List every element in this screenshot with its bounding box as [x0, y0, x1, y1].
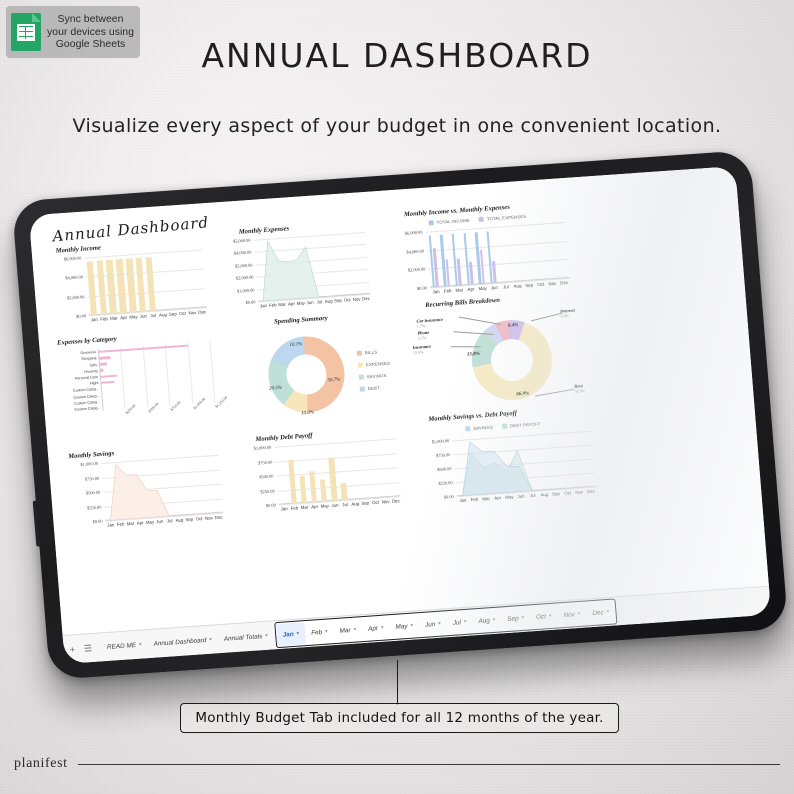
x-tick-label: May — [505, 494, 514, 500]
x-tick-label: Dec — [560, 280, 568, 286]
page-subtitle: Visualize every aspect of your budget in… — [0, 115, 794, 137]
x-tick-label: May — [320, 503, 329, 509]
tablet-screen: Annual Dashboard Monthly Income$0.00$2,0… — [29, 166, 771, 664]
legend-label: DEBT PAYOFF — [510, 421, 541, 428]
category-label: Custom Categ... — [74, 406, 100, 412]
gridline — [276, 467, 398, 477]
x-tick-label: Apr — [311, 504, 318, 509]
x-tick-label: Jul — [530, 493, 536, 498]
bar — [100, 381, 115, 385]
legend-swatch — [465, 426, 470, 431]
y-tick-label: $0.00 — [92, 519, 102, 525]
x-tick-label: Apr — [120, 315, 127, 320]
donut-hole — [489, 338, 534, 383]
y-tick-label: $2,000.00 — [236, 275, 254, 281]
callout-leader-line — [397, 660, 398, 705]
legend-item: SAVINGS — [465, 425, 493, 432]
x-tick-label: Feb — [444, 288, 452, 294]
tab-label: Jan — [282, 630, 294, 638]
plot-area: $0.00$250.00$500.00$750.00$1,000.00JanFe… — [274, 438, 400, 504]
plot-area: $250.00$500.00$750.00$1,000.00$1,250.00G… — [98, 341, 215, 411]
legend-label: TOTAL EXPENSES — [487, 214, 527, 222]
callout-insurance: Insurance12.6% — [412, 344, 431, 355]
x-tick-label: Nov — [352, 296, 360, 302]
y-tick-label: $2,000.00 — [408, 267, 426, 273]
tab-label: Sep — [507, 615, 519, 623]
all-sheets-icon[interactable]: ☰ — [84, 643, 93, 655]
legend-swatch — [360, 386, 365, 391]
donut-chart — [469, 317, 555, 402]
legend-label: BILLS — [365, 349, 378, 355]
slice-percent-label: 18.1% — [289, 342, 302, 348]
chevron-down-icon[interactable]: ▾ — [381, 625, 384, 631]
bar — [145, 257, 156, 311]
legend-label: EXPENSES — [366, 361, 391, 368]
tablet-mockup: Annual Dashboard Monthly Income$0.00$2,0… — [12, 150, 789, 680]
x-tick-label: Sep — [185, 517, 193, 523]
x-tick-label: Jan — [280, 506, 287, 511]
chevron-down-icon[interactable]: ▾ — [549, 613, 552, 619]
sheet-tab-mar[interactable]: Mar▾ — [333, 615, 364, 645]
donut-hole — [285, 353, 328, 396]
sheet-tab-annual-totals[interactable]: Annual Totals▾ — [217, 621, 275, 653]
x-tick-label: May — [478, 286, 487, 292]
y-tick-label: $4,000.00 — [65, 275, 83, 281]
tab-label: Nov — [563, 611, 575, 619]
y-tick-label: $0.00 — [76, 313, 86, 319]
x-tick-label: Jul — [150, 313, 156, 318]
tab-label: Annual Dashboard — [153, 637, 206, 648]
gridline — [142, 346, 148, 408]
sheet-tab-nov[interactable]: Nov▾ — [556, 600, 587, 630]
x-tick-label: Sep — [169, 311, 177, 317]
y-tick-label: $750.00 — [258, 459, 273, 465]
leader-line — [535, 389, 575, 397]
x-tick-label: Aug — [325, 298, 333, 304]
chevron-down-icon[interactable]: ▾ — [410, 623, 413, 629]
y-tick-label: $750.00 — [85, 475, 100, 481]
chart-title: Expenses by Category — [57, 336, 117, 347]
slice-percent-label: 10.8% — [301, 411, 314, 417]
x-tick-label: Feb — [100, 316, 108, 322]
chart-legend: BILLSEXPENSESSAVINGSDEBT — [357, 349, 392, 392]
x-tick-label: Jul — [342, 502, 348, 507]
chart-recurring-bills: Recurring Bills Breakdown6.4%66.9%15.8%C… — [407, 289, 616, 421]
bar — [99, 369, 103, 372]
chevron-down-icon[interactable]: ▾ — [353, 627, 356, 633]
bar — [126, 259, 137, 313]
area-series — [452, 431, 596, 497]
chart-title: Monthly Debt Payoff — [255, 432, 312, 443]
plot-area: $0.00$2,000.00$4,000.00$6,000.00JanFebMa… — [425, 222, 569, 288]
x-tick-label: Jan — [91, 317, 98, 322]
chart-monthly-savings: Monthly Savings$0.00$250.00$500.00$750.0… — [62, 442, 237, 545]
chevron-down-icon[interactable]: ▾ — [606, 609, 609, 615]
x-tick-label: Sep — [552, 491, 560, 497]
gridline — [275, 453, 397, 463]
y-tick-label: $6,000.00 — [405, 230, 423, 236]
tab-label: Annual Totals — [224, 633, 263, 643]
spreadsheet-canvas: Annual Dashboard Monthly Income$0.00$2,0… — [29, 166, 769, 636]
x-tick-label: Jan — [459, 498, 466, 503]
chevron-down-icon[interactable]: ▾ — [438, 621, 441, 627]
tab-label: Oct — [536, 613, 546, 621]
y-tick-label: $0.00 — [444, 494, 454, 500]
bar — [98, 356, 110, 359]
y-tick-label: $6,000.00 — [64, 255, 82, 261]
legend-item: BILLS — [357, 349, 378, 355]
chart-title: Monthly Savings — [68, 450, 114, 460]
legend-swatch — [428, 220, 433, 225]
x-tick-label: May — [146, 519, 155, 525]
slice-percent-label: 20.5% — [269, 386, 282, 392]
tab-label: Mar — [339, 626, 351, 634]
chevron-down-icon[interactable]: ▾ — [325, 629, 328, 635]
x-tick-label: Dec — [198, 309, 206, 315]
x-tick-label: Jun — [517, 494, 524, 499]
y-tick-label: $500.00 — [86, 490, 101, 496]
y-tick-label: $4,000.00 — [234, 250, 252, 256]
gridline — [120, 347, 126, 409]
y-tick-label: $0.00 — [266, 502, 276, 508]
slice-percent-label: 66.9% — [516, 391, 529, 397]
category-label: Custom Categ... — [73, 387, 99, 393]
x-tick-label: May — [129, 314, 138, 320]
callout-phone: Phone5.1% — [417, 330, 429, 341]
footer-rule — [78, 764, 780, 765]
area-series — [253, 232, 370, 302]
x-tick-label: Mar — [278, 302, 286, 308]
legend-label: SAVINGS — [367, 373, 387, 379]
x-tick-label: Jun — [306, 300, 313, 305]
x-tick-label: Jul — [316, 299, 322, 304]
x-tick-label: Jan — [107, 522, 114, 527]
chevron-down-icon[interactable]: ▾ — [265, 633, 268, 639]
legend-swatch — [357, 351, 362, 356]
category-label: Shopping — [81, 356, 96, 361]
x-tick-label: Apr — [137, 520, 144, 525]
x-tick-label: $750.00 — [170, 400, 182, 411]
x-tick-label: Mar — [455, 287, 463, 293]
x-tick-label: Jan — [432, 289, 439, 294]
bar — [116, 259, 127, 313]
x-tick-label: Dec — [215, 515, 223, 521]
chart-savings-vs-debt: Monthly Savings vs. Debt PayoffSAVINGSDE… — [408, 404, 610, 521]
legend-swatch — [359, 374, 364, 379]
sheet-tab-annual-dashboard[interactable]: Annual Dashboard▾ — [146, 625, 219, 658]
slice-percent-label: 50.7% — [327, 378, 340, 384]
x-tick-label: Oct — [564, 490, 571, 495]
x-tick-label: Mar — [301, 505, 309, 511]
y-tick-label: $3,000.00 — [235, 262, 253, 268]
bar — [328, 458, 337, 501]
x-tick-label: $1,250.00 — [215, 395, 229, 408]
gridline — [427, 241, 567, 252]
category-label: Flight — [90, 381, 99, 386]
gridline — [165, 344, 171, 406]
y-tick-label: $500.00 — [259, 473, 274, 479]
chart-title: Spending Summary — [274, 315, 328, 326]
x-tick-label: Nov — [382, 499, 390, 505]
y-tick-label: $5,000.00 — [233, 238, 251, 244]
x-tick-label: Nov — [188, 310, 196, 316]
callout-percent: 6.4% — [560, 313, 575, 319]
callout-box: Monthly Budget Tab included for all 12 m… — [180, 703, 619, 733]
tab-label: Aug — [478, 617, 490, 625]
bar — [486, 232, 493, 284]
x-tick-label: Oct — [179, 311, 186, 316]
legend-swatch — [502, 424, 507, 429]
x-tick-label: Feb — [117, 521, 125, 527]
sheet-tab-jun[interactable]: Jun▾ — [418, 609, 448, 639]
brand-name: planifest — [14, 756, 68, 772]
chart-title: Monthly Expenses — [239, 225, 290, 235]
sheet-tab-apr[interactable]: Apr▾ — [361, 613, 391, 643]
bar — [100, 374, 118, 378]
chevron-down-icon[interactable]: ▾ — [521, 615, 524, 621]
callout-car-insurance: Car Insurance1.7% — [416, 317, 443, 329]
bar — [86, 262, 97, 316]
x-tick-label: Jun — [156, 519, 163, 524]
legend-swatch — [479, 217, 484, 222]
bar — [135, 258, 146, 312]
category-label: Gifts — [89, 363, 97, 368]
plot-area: $0.00$1,000.00$2,000.00$3,000.00$4,000.0… — [253, 232, 370, 302]
slice-percent-label: 6.4% — [508, 323, 519, 329]
y-tick-label: $250.00 — [87, 504, 102, 510]
x-tick-label: May — [296, 300, 305, 306]
x-tick-label: Aug — [351, 501, 359, 507]
x-tick-label: Apr — [467, 287, 474, 292]
category-label: Custom Categ... — [73, 393, 99, 399]
x-tick-label: Jul — [503, 284, 509, 289]
sheet-tab-read-me[interactable]: READ ME▾ — [100, 630, 149, 661]
leader-line — [459, 317, 501, 325]
y-tick-label: $2,000.00 — [67, 294, 85, 300]
x-tick-label: Oct — [344, 297, 351, 302]
legend-item: DEBT — [360, 385, 380, 391]
sheet-tab-oct[interactable]: Oct▾ — [529, 602, 559, 632]
tab-label: Dec — [592, 609, 604, 617]
sheet-tab-aug[interactable]: Aug▾ — [471, 605, 502, 635]
category-label: Custom Categ... — [74, 400, 100, 406]
y-tick-label: $1,000.00 — [80, 461, 98, 467]
x-tick-label: Dec — [362, 296, 370, 302]
gridline — [187, 343, 193, 405]
category-label: Personal Care — [75, 375, 98, 381]
legend-swatch — [358, 362, 363, 367]
x-tick-label: Feb — [269, 302, 277, 308]
legend-item: TOTAL INCOME — [428, 218, 470, 226]
x-tick-label: Oct — [195, 516, 202, 521]
x-tick-label: Aug — [159, 312, 167, 318]
y-tick-label: $1,000.00 — [237, 287, 255, 293]
area-series — [101, 455, 223, 521]
bar — [99, 363, 107, 366]
callout-percent: 66.9% — [574, 388, 585, 394]
chevron-down-icon[interactable]: ▾ — [296, 631, 299, 637]
chart-legend: SAVINGSDEBT PAYOFF — [465, 421, 541, 431]
legend-item: TOTAL EXPENSES — [479, 214, 527, 222]
chevron-down-icon[interactable]: ▾ — [209, 637, 212, 643]
x-tick-label: Apr — [288, 301, 295, 306]
chart-income-vs-expenses: Monthly Income vs. Monthly ExpensesTOTAL… — [382, 200, 577, 305]
bar — [320, 479, 327, 501]
chart-title: Monthly Income — [55, 244, 101, 254]
x-tick-label: Mar — [110, 315, 118, 321]
plot-area: $0.00$250.00$500.00$750.00$1,000.00JanFe… — [452, 431, 596, 497]
leader-line — [451, 346, 481, 347]
gridline — [278, 482, 400, 492]
chevron-down-icon[interactable]: ▾ — [139, 642, 142, 648]
x-tick-label: Jul — [167, 518, 173, 523]
sheet-tab-feb[interactable]: Feb▾ — [304, 617, 335, 647]
gridline — [84, 249, 202, 258]
y-tick-label: $250.00 — [260, 488, 275, 494]
sheet-tab-dec[interactable]: Dec▾ — [585, 598, 616, 628]
sheet-tab-sep[interactable]: Sep▾ — [500, 603, 531, 633]
callout-percent: 1.7% — [417, 322, 444, 329]
y-tick-label: $750.00 — [436, 452, 451, 458]
y-tick-label: $0.00 — [245, 299, 255, 305]
gridline — [428, 259, 568, 270]
donut-chart — [265, 334, 347, 415]
x-tick-label: Sep — [361, 500, 369, 506]
y-tick-label: $500.00 — [437, 466, 452, 472]
x-tick-label: Aug — [175, 517, 183, 523]
x-tick-label: $250.00 — [125, 404, 137, 415]
category-label: Groceries — [80, 350, 96, 355]
tab-label: Apr — [368, 625, 378, 633]
x-tick-label: Mar — [482, 496, 490, 502]
bar — [299, 476, 307, 503]
x-tick-label: Jun — [491, 285, 498, 290]
x-tick-label: Jun — [331, 503, 338, 508]
x-tick-label: $500.00 — [148, 402, 160, 413]
bar — [106, 260, 117, 314]
callout-percent: 5.1% — [418, 335, 430, 341]
bar — [96, 261, 107, 315]
chart-expenses-by-category: Expenses by Category$250.00$500.00$750.0… — [53, 328, 239, 444]
x-tick-label: Dec — [392, 498, 400, 504]
x-tick-label: Apr — [494, 495, 501, 500]
legend-label: TOTAL INCOME — [436, 218, 470, 225]
x-tick-label: Feb — [290, 505, 298, 511]
x-tick-label: Feb — [471, 497, 479, 503]
tablet-frame: Annual Dashboard Monthly Income$0.00$2,0… — [12, 150, 789, 680]
chevron-down-icon[interactable]: ▾ — [464, 619, 467, 625]
x-tick-label: $1,000.00 — [192, 397, 206, 410]
x-tick-label: Nov — [548, 281, 556, 287]
x-tick-label: Mar — [126, 521, 134, 527]
y-tick-label: $0.00 — [417, 285, 427, 291]
callout-percent: 12.6% — [413, 349, 432, 355]
x-tick-label: Oct — [537, 282, 544, 287]
x-tick-label: Sep — [525, 282, 533, 288]
tab-label: READ ME — [107, 641, 137, 650]
tab-label: May — [395, 622, 408, 630]
chart-spending-summary: Spending Summary50.7%10.8%20.5%18.1%BILL… — [234, 309, 418, 431]
legend-item: DEBT PAYOFF — [502, 421, 541, 429]
x-tick-label: Aug — [513, 283, 521, 289]
y-tick-label: $4,000.00 — [406, 248, 424, 254]
bar — [463, 233, 470, 285]
callout-rent: Rent66.9% — [574, 383, 585, 394]
chart-monthly-expenses: Monthly Expenses$0.00$1,000.00$2,000.00$… — [213, 219, 380, 318]
x-tick-label: Oct — [372, 500, 379, 505]
plot-area: $0.00$2,000.00$4,000.00$6,000.00JanFebMa… — [84, 249, 206, 315]
sheet-tab-jan[interactable]: Jan▾ — [276, 622, 306, 646]
bar — [309, 471, 317, 503]
x-tick-label: Nov — [575, 489, 583, 495]
chevron-down-icon[interactable]: ▾ — [578, 611, 581, 617]
chart-monthly-income: Monthly Income$0.00$2,000.00$4,000.00$6,… — [49, 237, 215, 328]
x-tick-label: Dec — [587, 489, 595, 495]
legend-item: EXPENSES — [358, 361, 391, 368]
leader-line — [531, 313, 562, 322]
sheet-tab-may[interactable]: May▾ — [388, 611, 420, 641]
x-tick-label: Jan — [260, 303, 267, 308]
legend-label: SAVINGS — [473, 425, 493, 431]
tab-label: Jun — [425, 621, 436, 629]
slice-percent-label: 15.8% — [467, 352, 480, 358]
page-title: ANNUAL DASHBOARD — [0, 36, 794, 75]
y-tick-label: $250.00 — [438, 480, 453, 486]
legend-label: DEBT — [368, 385, 380, 391]
y-tick-label: $1,000.00 — [431, 438, 449, 444]
tab-label: Jul — [453, 619, 462, 627]
x-tick-label: Nov — [205, 515, 213, 521]
legend-item: SAVINGS — [359, 373, 387, 380]
plot-area: $0.00$250.00$500.00$750.00$1,000.00JanFe… — [101, 455, 223, 521]
x-tick-label: Aug — [540, 492, 548, 498]
category-label: Housing — [84, 369, 97, 374]
tab-label: Feb — [311, 628, 323, 636]
footer: planifest — [0, 756, 794, 772]
chevron-down-icon[interactable]: ▾ — [493, 617, 496, 623]
gridline — [209, 341, 215, 403]
sheet-tab-jul[interactable]: Jul▾ — [446, 607, 474, 637]
bar — [288, 460, 297, 504]
x-tick-label: Sep — [334, 298, 342, 304]
plus-icon[interactable]: + — [69, 644, 75, 654]
chart-monthly-debt-payoff: Monthly Debt Payoff$0.00$250.00$500.00$7… — [233, 426, 412, 532]
y-tick-label: $1,000.00 — [253, 445, 271, 451]
x-tick-label: Jun — [140, 313, 147, 318]
